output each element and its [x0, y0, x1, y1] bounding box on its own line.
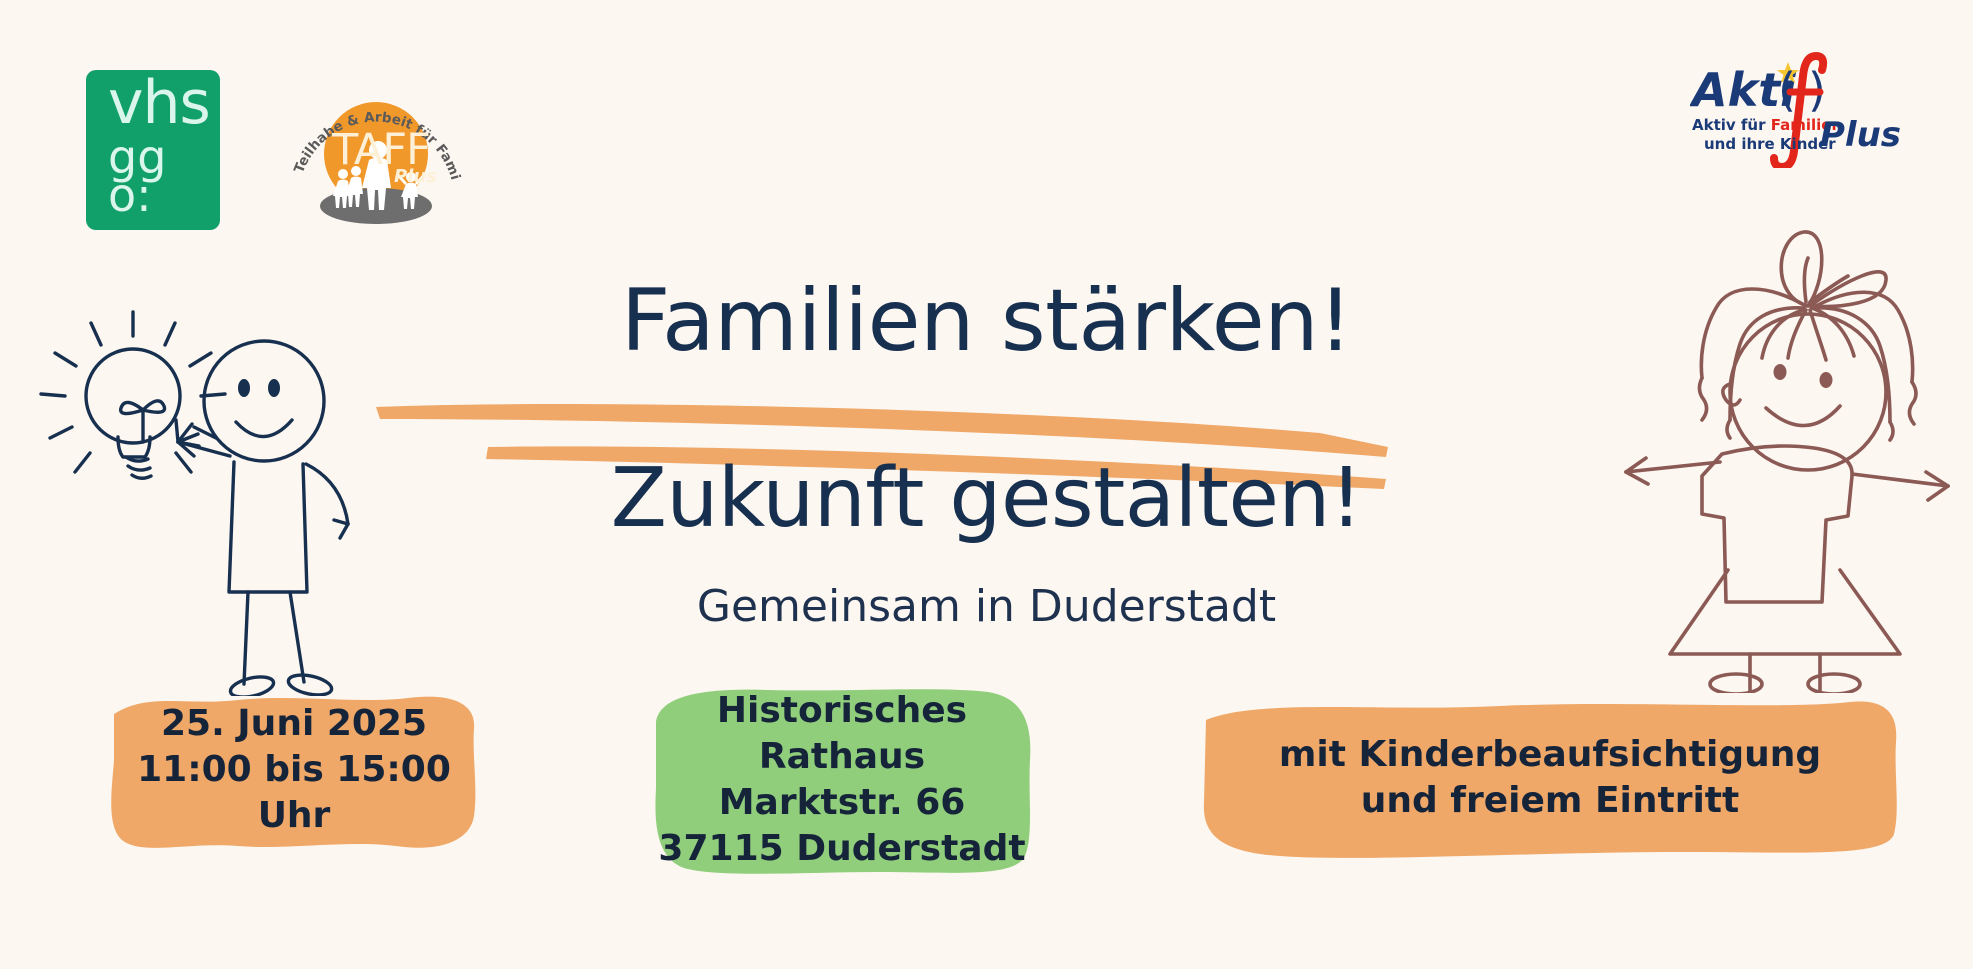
headline-secondary: Zukunft gestalten! — [0, 458, 1973, 540]
aktif-plus-suffix: Plus — [1820, 115, 1901, 155]
taff-plus-logo: Teilhabe & Arbeit für Familien TA — [286, 58, 466, 228]
taff-logo-graphic: Teilhabe & Arbeit für Familien TA — [286, 58, 466, 228]
girl-shoe-right — [1808, 674, 1860, 693]
vhs-logo-wordmark: vhs — [108, 76, 210, 131]
page-subtitle: Gemeinsam in Duderstadt — [0, 581, 1973, 632]
girl-eye-right — [1820, 372, 1833, 388]
girl-smile — [1766, 406, 1840, 426]
aktif-logo-graphic: Akti ( ) Aktiv für Familien und ihre Kin… — [1690, 48, 1910, 168]
event-date-box: 25. Juni 2025 11:00 bis 15:00 Uhr — [108, 684, 480, 856]
headline-primary: Familien stärken! — [0, 278, 1973, 364]
event-extras-text: mit Kinderbeaufsichtigung und freiem Ein… — [1279, 732, 1821, 824]
event-date-text: 25. Juni 2025 11:00 bis 15:00 Uhr — [108, 701, 480, 839]
aktif-plus-logo: Akti ( ) Aktiv für Familien und ihre Kin… — [1690, 48, 1910, 168]
vhs-logo: vhs gg o: — [86, 70, 220, 230]
event-venue-box: Historisches Rathaus Marktstr. 66 37115 … — [648, 682, 1036, 878]
event-extras-box: mit Kinderbeaufsichtigung und freiem Ein… — [1200, 692, 1900, 864]
event-venue-text: Historisches Rathaus Marktstr. 66 37115 … — [648, 688, 1036, 872]
taff-plus-suffix: Plus — [394, 166, 437, 187]
girl-eye-left — [1774, 364, 1787, 380]
girl-shoe-left — [1710, 674, 1762, 693]
vhs-logo-o: o: — [108, 174, 152, 218]
poster-canvas: vhs gg o: Teilhabe & Arbeit für Familien — [0, 0, 1973, 969]
aktif-tagline-line2: und ihre Kinder — [1704, 135, 1836, 153]
